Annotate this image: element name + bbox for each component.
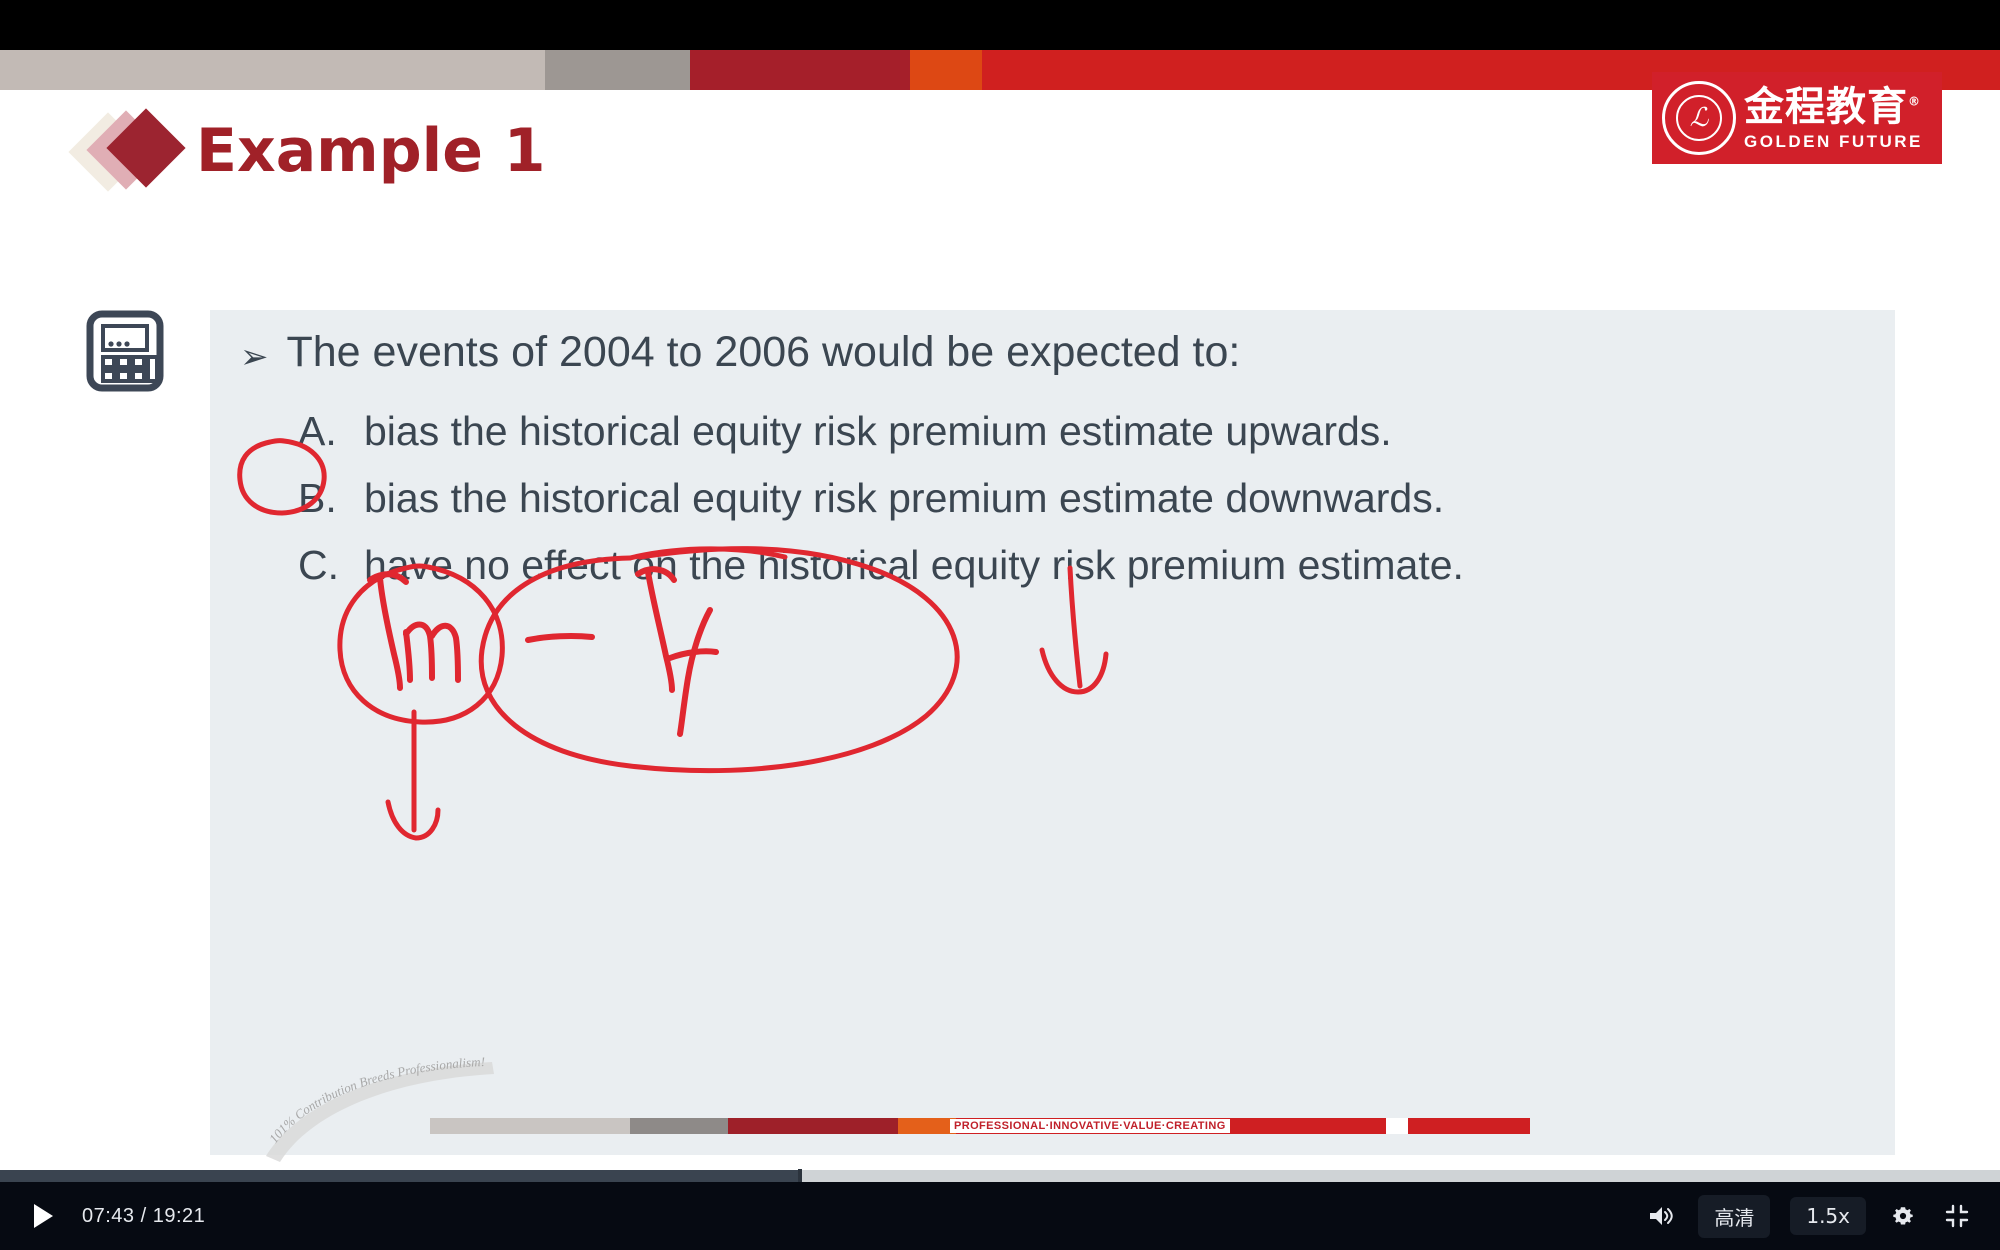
playback-speed-selector[interactable]: 1.5x xyxy=(1790,1197,1866,1235)
ribbon-segment-3 xyxy=(910,50,982,90)
option-b-text: bias the historical equity risk premium … xyxy=(364,477,1444,520)
option-a-letter: A. xyxy=(298,408,364,455)
option-c-text: have no effect on the historical equity … xyxy=(364,544,1464,587)
option-c[interactable]: C. have no effect on the historical equi… xyxy=(298,542,1878,589)
logo-text-group: 金程教育® GOLDEN FUTURE xyxy=(1744,87,1923,150)
play-icon[interactable] xyxy=(26,1199,60,1233)
option-b-letter: B. xyxy=(298,475,364,522)
bullet-arrow-icon: ➢ xyxy=(240,340,269,374)
gear-icon[interactable] xyxy=(1886,1199,1920,1233)
footer-bar-segment-6 xyxy=(1408,1118,1530,1134)
brand-logo: ℒ 金程教育® GOLDEN FUTURE xyxy=(1652,72,1942,164)
slide-canvas[interactable]: ℒ 金程教育® GOLDEN FUTURE Example 1 xyxy=(0,50,2000,1170)
slide-footer: 101% Contribution Breeds Professionalism… xyxy=(260,1052,1660,1162)
progress-bar[interactable] xyxy=(0,1170,2000,1182)
fullscreen-exit-icon[interactable] xyxy=(1940,1199,1974,1233)
time-display: 07:43 / 19:21 xyxy=(82,1205,205,1228)
question-text: The events of 2004 to 2006 would be expe… xyxy=(287,330,1241,375)
logo-chinese-name: 金程教育® xyxy=(1744,87,1923,127)
logo-registered-mark: ® xyxy=(1908,94,1921,108)
question-row: ➢ The events of 2004 to 2006 would be ex… xyxy=(240,330,1840,375)
page-title: Example 1 xyxy=(196,116,546,186)
footer-bar-segment-2 xyxy=(728,1118,898,1134)
controls-right-group: 高清 1.5x xyxy=(1644,1195,1974,1238)
video-player: ℒ 金程教育® GOLDEN FUTURE Example 1 xyxy=(0,0,2000,1250)
controls-left-group: 07:43 / 19:21 xyxy=(26,1199,205,1233)
progress-handle[interactable] xyxy=(798,1169,802,1183)
progress-fill xyxy=(0,1170,800,1182)
logo-seal-icon: ℒ xyxy=(1662,81,1736,155)
calculator-icon xyxy=(86,310,164,392)
slide-content-panel: ➢ The events of 2004 to 2006 would be ex… xyxy=(210,310,1895,1155)
logo-monogram: ℒ xyxy=(1676,95,1722,141)
ribbon-segment-1 xyxy=(545,50,690,90)
footer-bar-segment-3 xyxy=(898,1118,956,1134)
footer-bar-segment-0 xyxy=(430,1118,630,1134)
player-controls: 07:43 / 19:21 高清 1.5x xyxy=(0,1182,2000,1250)
footer-bar-segment-1 xyxy=(630,1118,728,1134)
option-a[interactable]: A. bias the historical equity risk premi… xyxy=(298,408,1878,455)
footer-curve-art: 101% Contribution Breeds Professionalism… xyxy=(260,1052,1660,1162)
volume-icon[interactable] xyxy=(1644,1199,1678,1233)
slide-title-row: Example 1 xyxy=(80,108,546,194)
quality-selector[interactable]: 高清 xyxy=(1698,1195,1770,1238)
diamond-ornament-icon xyxy=(80,108,190,194)
logo-cn-text: 金程教育 xyxy=(1744,84,1908,130)
footer-bar-segment-5 xyxy=(1386,1118,1408,1134)
option-c-letter: C. xyxy=(298,542,364,589)
logo-english-name: GOLDEN FUTURE xyxy=(1744,133,1923,150)
option-b[interactable]: B. bias the historical equity risk premi… xyxy=(298,475,1878,522)
ribbon-segment-2 xyxy=(690,50,910,90)
footer-tagline: PROFESSIONAL·INNOVATIVE·VALUE·CREATING xyxy=(950,1119,1230,1133)
options-list: A. bias the historical equity risk premi… xyxy=(298,408,1878,609)
ribbon-segment-0 xyxy=(0,50,545,90)
option-a-text: bias the historical equity risk premium … xyxy=(364,410,1392,453)
